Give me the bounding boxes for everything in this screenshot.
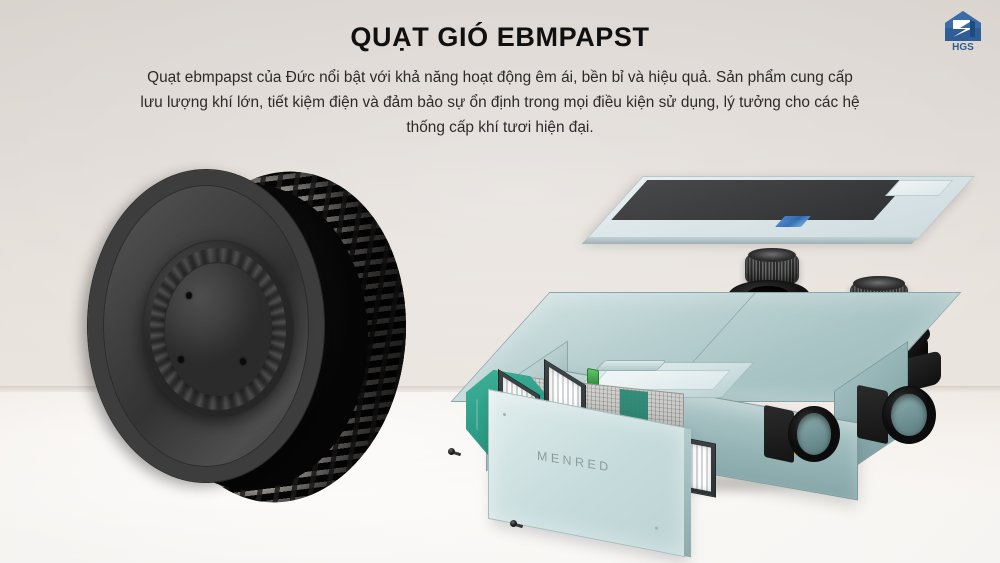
front-panel-screw-hole-2 xyxy=(655,526,658,530)
hub-hole-3 xyxy=(240,358,246,365)
front-panel-brand-label: MENRED xyxy=(537,449,612,475)
page-title: QUẠT GIÓ EBMPAPST xyxy=(0,22,1000,53)
top-cover-edge xyxy=(582,237,918,244)
hub-plate xyxy=(164,262,272,396)
centrifugal-blower-wheel xyxy=(80,162,410,512)
hrv-exploded-assembly: MENRED xyxy=(470,170,990,550)
front-cover-panel-edge xyxy=(684,428,691,557)
front-panel-screw-hole-1 xyxy=(503,413,506,417)
chassis-handle xyxy=(595,360,667,371)
screw-1-head xyxy=(448,448,455,455)
screw-2-head xyxy=(510,520,517,527)
hub-hole-2 xyxy=(178,356,184,363)
impeller-left-top xyxy=(748,248,796,262)
duct-collar-left xyxy=(788,406,840,462)
duct-collar-right-bore xyxy=(891,394,927,437)
screw-2 xyxy=(510,520,523,529)
svg-text:HGS: HGS xyxy=(952,42,974,52)
screw-1 xyxy=(448,448,461,457)
duct-collar-right xyxy=(882,386,936,444)
duct-collar-left-bore xyxy=(797,413,831,454)
top-cover-insulation-pad xyxy=(611,180,909,220)
hgs-logo[interactable]: HGS xyxy=(940,8,986,52)
top-cover-plate xyxy=(587,176,973,238)
hub-hole-1 xyxy=(186,292,192,299)
page-description: Quạt ebmpapst của Đức nổi bật với khả nă… xyxy=(140,66,860,141)
impeller-right-top xyxy=(853,276,904,292)
slide-canvas: QUẠT GIÓ EBMPAPST Quạt ebmpapst của Đức … xyxy=(0,0,1000,563)
